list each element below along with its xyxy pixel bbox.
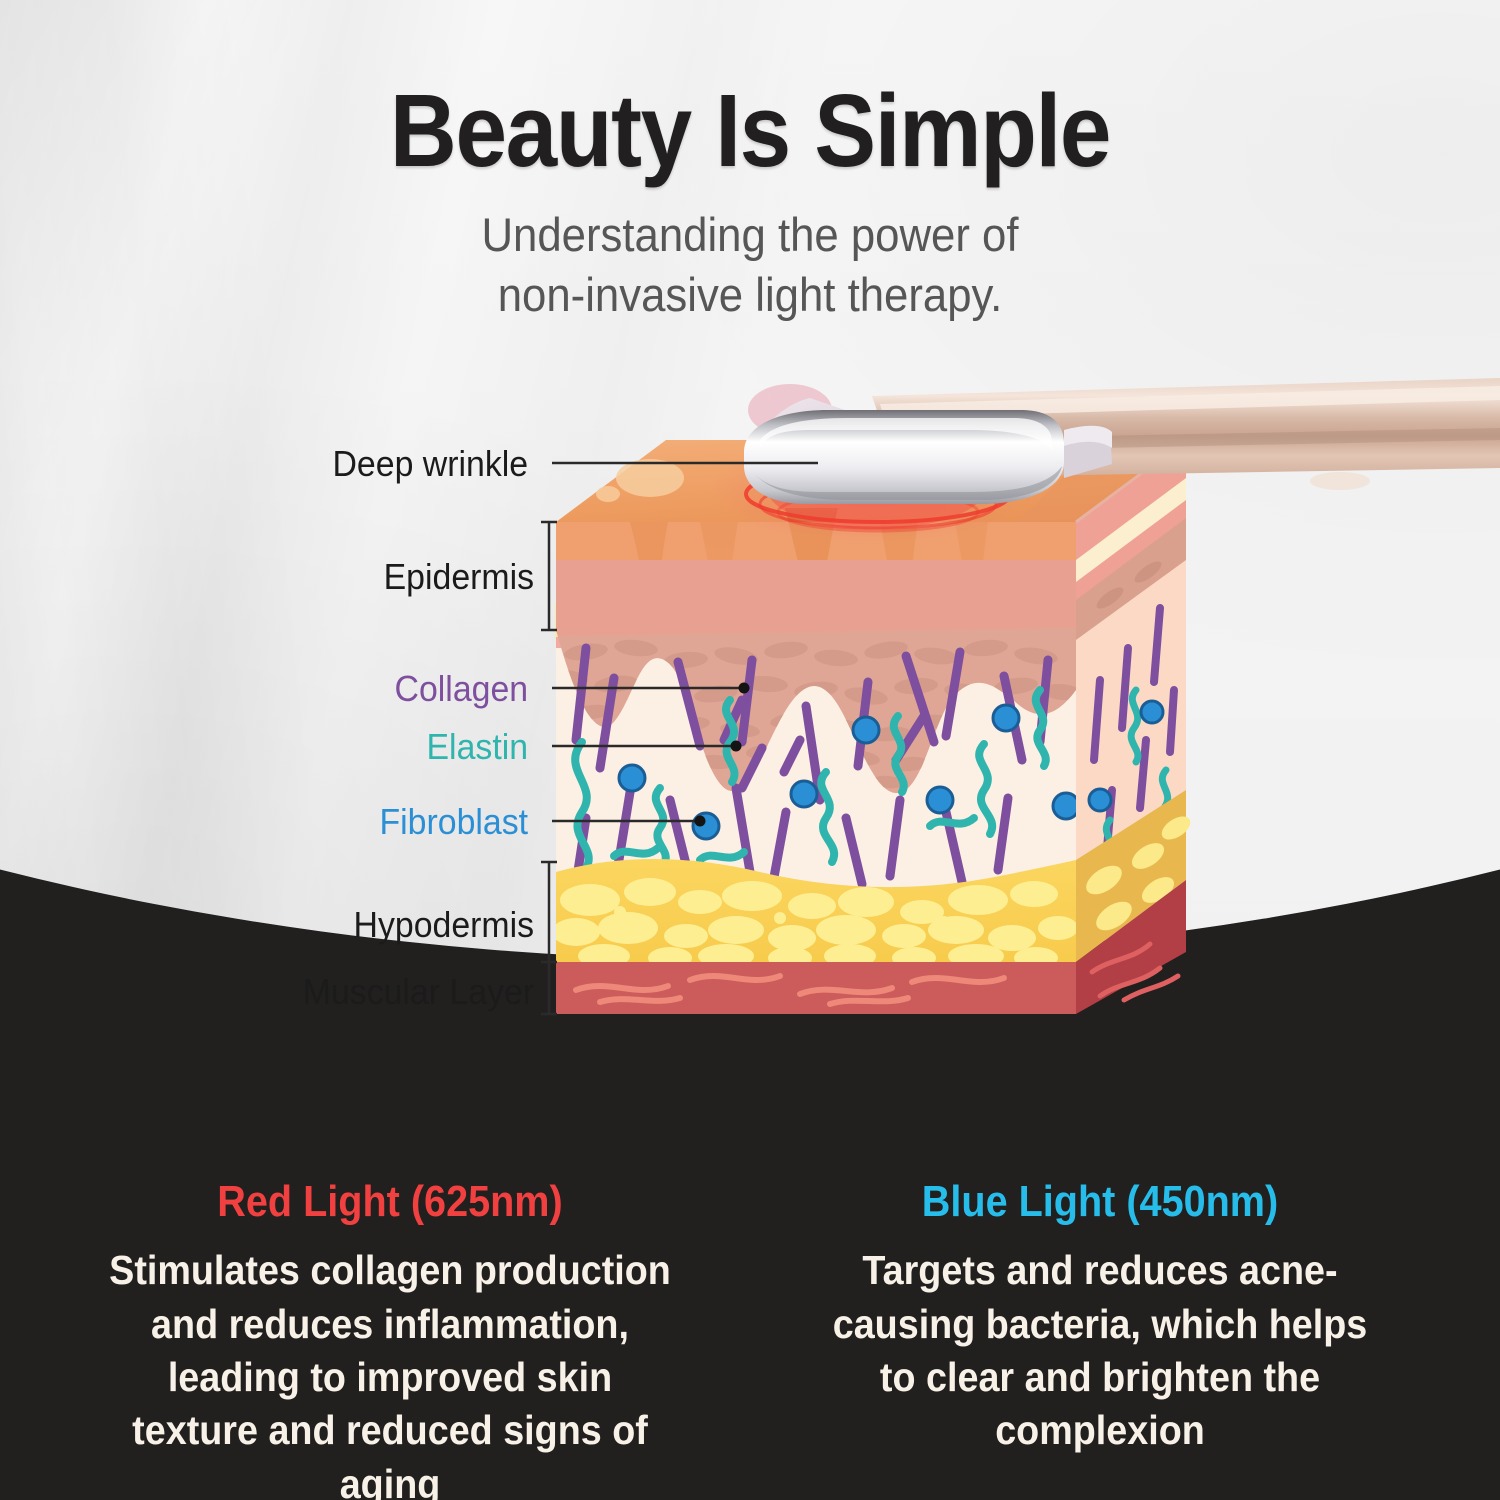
blue-light-description: Targets and reduces acne-causing bacteri…	[815, 1244, 1385, 1457]
red-light-heading: Red Light (625nm)	[111, 1178, 669, 1226]
label-fibroblast: Fibroblast	[379, 801, 528, 843]
skin-block-right-face	[1076, 440, 1194, 1014]
skin-highlight-spot	[616, 459, 684, 497]
infographic-canvas: Beauty Is Simple Understanding the power…	[0, 0, 1500, 1500]
label-muscular-layer: Muscular Layer	[303, 971, 534, 1013]
label-collagen: Collagen	[394, 668, 528, 710]
label-hypodermis: Hypodermis	[353, 904, 534, 946]
benefit-card-red-light: Red Light (625nm) Stimulates collagen pr…	[80, 1178, 700, 1500]
muscular-layer	[556, 962, 1076, 1014]
red-light-description: Stimulates collagen production and reduc…	[105, 1244, 675, 1500]
label-deep-wrinkle: Deep wrinkle	[332, 443, 528, 485]
label-elastin: Elastin	[426, 726, 528, 768]
blue-light-heading: Blue Light (450nm)	[821, 1178, 1379, 1226]
label-epidermis: Epidermis	[384, 556, 534, 598]
benefit-card-blue-light: Blue Light (450nm) Targets and reduces a…	[790, 1178, 1410, 1458]
